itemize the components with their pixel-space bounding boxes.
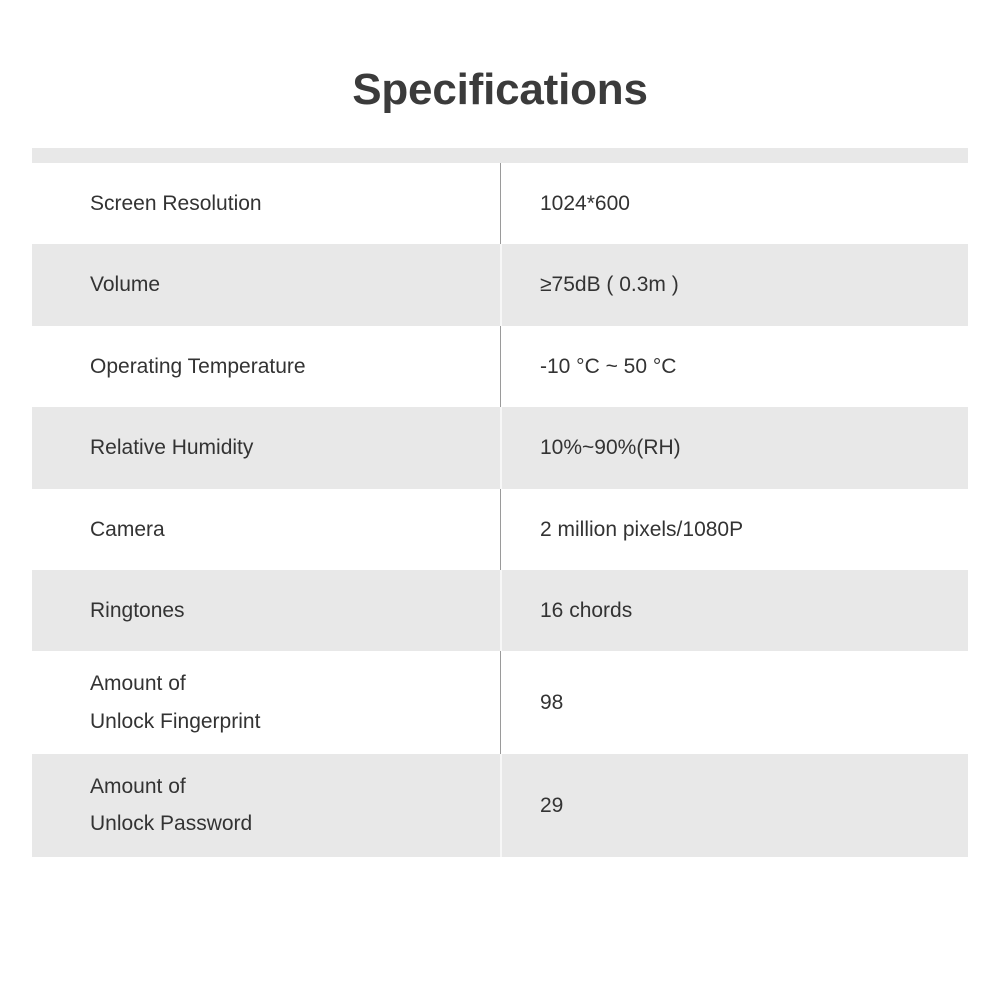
spec-label: Amount of Unlock Password [32,754,500,857]
spec-value: ≥75dB ( 0.3m ) [500,244,968,325]
spec-value: 16 chords [500,570,968,651]
table-row: Ringtones 16 chords [32,570,968,651]
spec-value: 10%~90%(RH) [500,407,968,488]
specifications-table: Screen Resolution 1024*600 Volume ≥75dB … [32,148,968,857]
spec-label: Screen Resolution [32,163,500,244]
table-row: Amount of Unlock Password 29 [32,754,968,857]
spec-label-line-1: Amount of [90,768,500,805]
spec-value: 1024*600 [500,163,968,244]
spec-label: Relative Humidity [32,407,500,488]
table-header-strip-left [32,148,500,163]
spec-label-line-1: Amount of [90,665,500,702]
table-row: Camera 2 million pixels/1080P [32,489,968,570]
spec-value: 2 million pixels/1080P [500,489,968,570]
spec-label: Operating Temperature [32,326,500,407]
page-title: Specifications [0,64,1000,116]
table-row: Relative Humidity 10%~90%(RH) [32,407,968,488]
spec-value: 98 [500,651,968,754]
specifications-table-body: Screen Resolution 1024*600 Volume ≥75dB … [32,148,968,857]
spec-label-line-2: Unlock Password [90,805,500,842]
table-row: Amount of Unlock Fingerprint 98 [32,651,968,754]
spec-label: Volume [32,244,500,325]
table-row: Volume ≥75dB ( 0.3m ) [32,244,968,325]
spec-value: -10 °C ~ 50 °C [500,326,968,407]
table-header-strip-right [500,148,968,163]
table-row: Operating Temperature -10 °C ~ 50 °C [32,326,968,407]
spec-label: Amount of Unlock Fingerprint [32,651,500,754]
table-header-strip [32,148,968,163]
spec-value: 29 [500,754,968,857]
specifications-page: Specifications Screen Resolution 1024*60… [0,0,1000,1000]
spec-label: Ringtones [32,570,500,651]
spec-label: Camera [32,489,500,570]
spec-label-line-2: Unlock Fingerprint [90,703,500,740]
table-row: Screen Resolution 1024*600 [32,163,968,244]
